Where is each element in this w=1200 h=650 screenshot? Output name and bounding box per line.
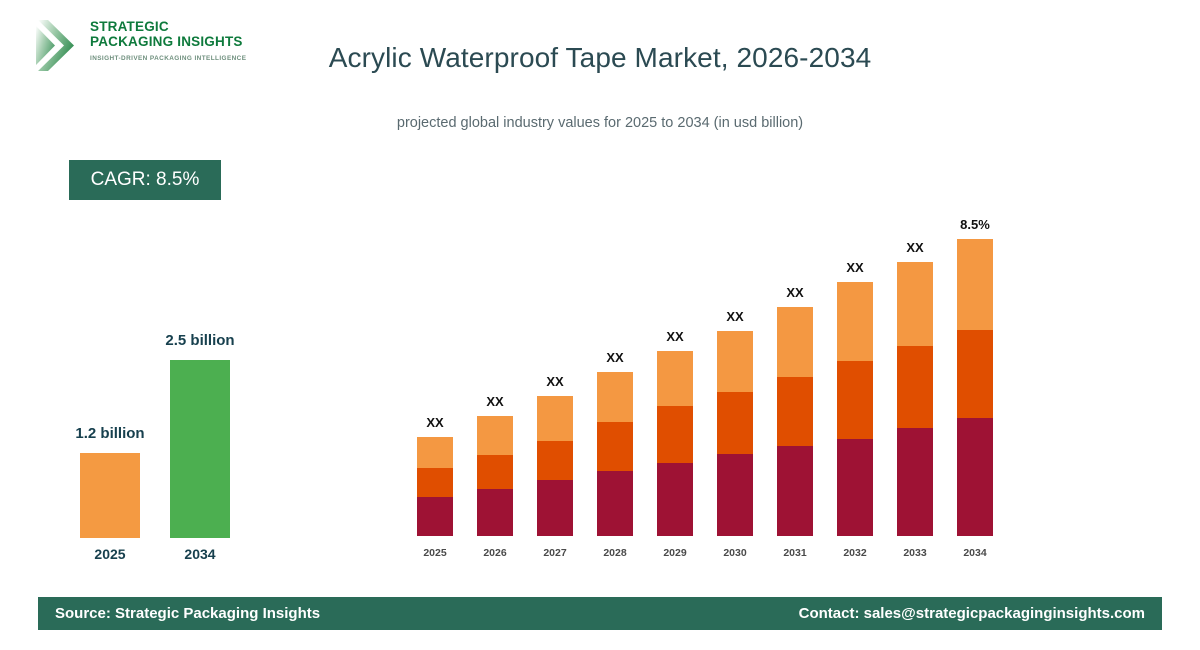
stacked-bar-value-label-2029: XX: [657, 329, 693, 344]
footer-contact: Contact: sales@strategicpackaginginsight…: [799, 605, 1145, 622]
stacked-bar-value-label-2034: 8.5%: [957, 217, 993, 232]
stacked-segment-2032-3: [837, 282, 873, 361]
stacked-segment-2025-2: [417, 468, 453, 497]
comparison-year-label-2025: 2025: [70, 546, 150, 562]
comparison-bar-chart: 1.2 billion20252.5 billion2034: [0, 0, 320, 600]
stacked-segment-2034-2: [957, 330, 993, 418]
stacked-segment-2026-1: [477, 489, 513, 536]
stacked-bar-2031: [777, 307, 813, 536]
stacked-segment-2026-2: [477, 455, 513, 489]
stacked-bar-2028: [597, 372, 633, 536]
stacked-segment-2034-1: [957, 418, 993, 536]
stacked-segment-2033-3: [897, 262, 933, 346]
stacked-segment-2031-1: [777, 446, 813, 536]
stacked-segment-2028-2: [597, 422, 633, 471]
stacked-bar-value-label-2026: XX: [477, 394, 513, 409]
stacked-bar-value-label-2028: XX: [597, 350, 633, 365]
comparison-bar-2025: [80, 453, 140, 538]
stacked-segment-2026-3: [477, 416, 513, 455]
comparison-bar-2034: [170, 360, 230, 538]
stacked-bar-2029: [657, 351, 693, 536]
stacked-segment-2028-3: [597, 372, 633, 422]
stacked-bar-year-label-2028: 2028: [597, 547, 633, 559]
stacked-segment-2029-2: [657, 406, 693, 463]
stacked-bar-value-label-2030: XX: [717, 309, 753, 324]
stacked-bar-value-label-2031: XX: [777, 285, 813, 300]
stacked-segment-2033-2: [897, 346, 933, 428]
stacked-bar-value-label-2032: XX: [837, 260, 873, 275]
stacked-segment-2030-3: [717, 331, 753, 392]
stacked-segment-2032-2: [837, 361, 873, 439]
stacked-segment-2031-2: [777, 377, 813, 446]
stacked-segment-2030-2: [717, 392, 753, 454]
stacked-bar-year-label-2034: 2034: [957, 547, 993, 559]
stacked-segment-2028-1: [597, 471, 633, 536]
stacked-segment-2029-1: [657, 463, 693, 536]
stacked-bar-value-label-2025: XX: [417, 415, 453, 430]
stacked-bar-year-label-2025: 2025: [417, 547, 453, 559]
stacked-segment-2033-1: [897, 428, 933, 536]
footer-bar: Source: Strategic Packaging Insights Con…: [38, 597, 1162, 630]
stacked-segment-2031-3: [777, 307, 813, 377]
stacked-segment-2027-1: [537, 480, 573, 536]
stacked-bar-chart: XX2025XX2026XX2027XX2028XX2029XX2030XX20…: [400, 195, 1040, 560]
footer-source: Source: Strategic Packaging Insights: [55, 605, 320, 622]
stacked-segment-2027-2: [537, 441, 573, 480]
stacked-segment-2034-3: [957, 239, 993, 330]
stacked-bar-year-label-2031: 2031: [777, 547, 813, 559]
stacked-bar-2033: [897, 262, 933, 536]
comparison-value-label-2025: 1.2 billion: [50, 425, 170, 442]
comparison-year-label-2034: 2034: [160, 546, 240, 562]
stacked-bar-2026: [477, 416, 513, 536]
stacked-bar-2027: [537, 396, 573, 536]
stacked-bar-2032: [837, 282, 873, 536]
stacked-bar-year-label-2026: 2026: [477, 547, 513, 559]
stacked-bar-year-label-2032: 2032: [837, 547, 873, 559]
stacked-bar-2034: [957, 239, 993, 536]
stacked-bar-year-label-2030: 2030: [717, 547, 753, 559]
stacked-bar-2025: [417, 437, 453, 536]
stacked-bar-year-label-2029: 2029: [657, 547, 693, 559]
stacked-bar-value-label-2027: XX: [537, 374, 573, 389]
stacked-bar-year-label-2027: 2027: [537, 547, 573, 559]
stacked-bar-2030: [717, 331, 753, 536]
stacked-segment-2027-3: [537, 396, 573, 441]
stacked-bar-year-label-2033: 2033: [897, 547, 933, 559]
stacked-bar-value-label-2033: XX: [897, 240, 933, 255]
comparison-value-label-2034: 2.5 billion: [140, 332, 260, 349]
stacked-segment-2032-1: [837, 439, 873, 536]
stacked-segment-2025-1: [417, 497, 453, 536]
stacked-segment-2030-1: [717, 454, 753, 536]
stacked-segment-2025-3: [417, 437, 453, 468]
stacked-segment-2029-3: [657, 351, 693, 406]
